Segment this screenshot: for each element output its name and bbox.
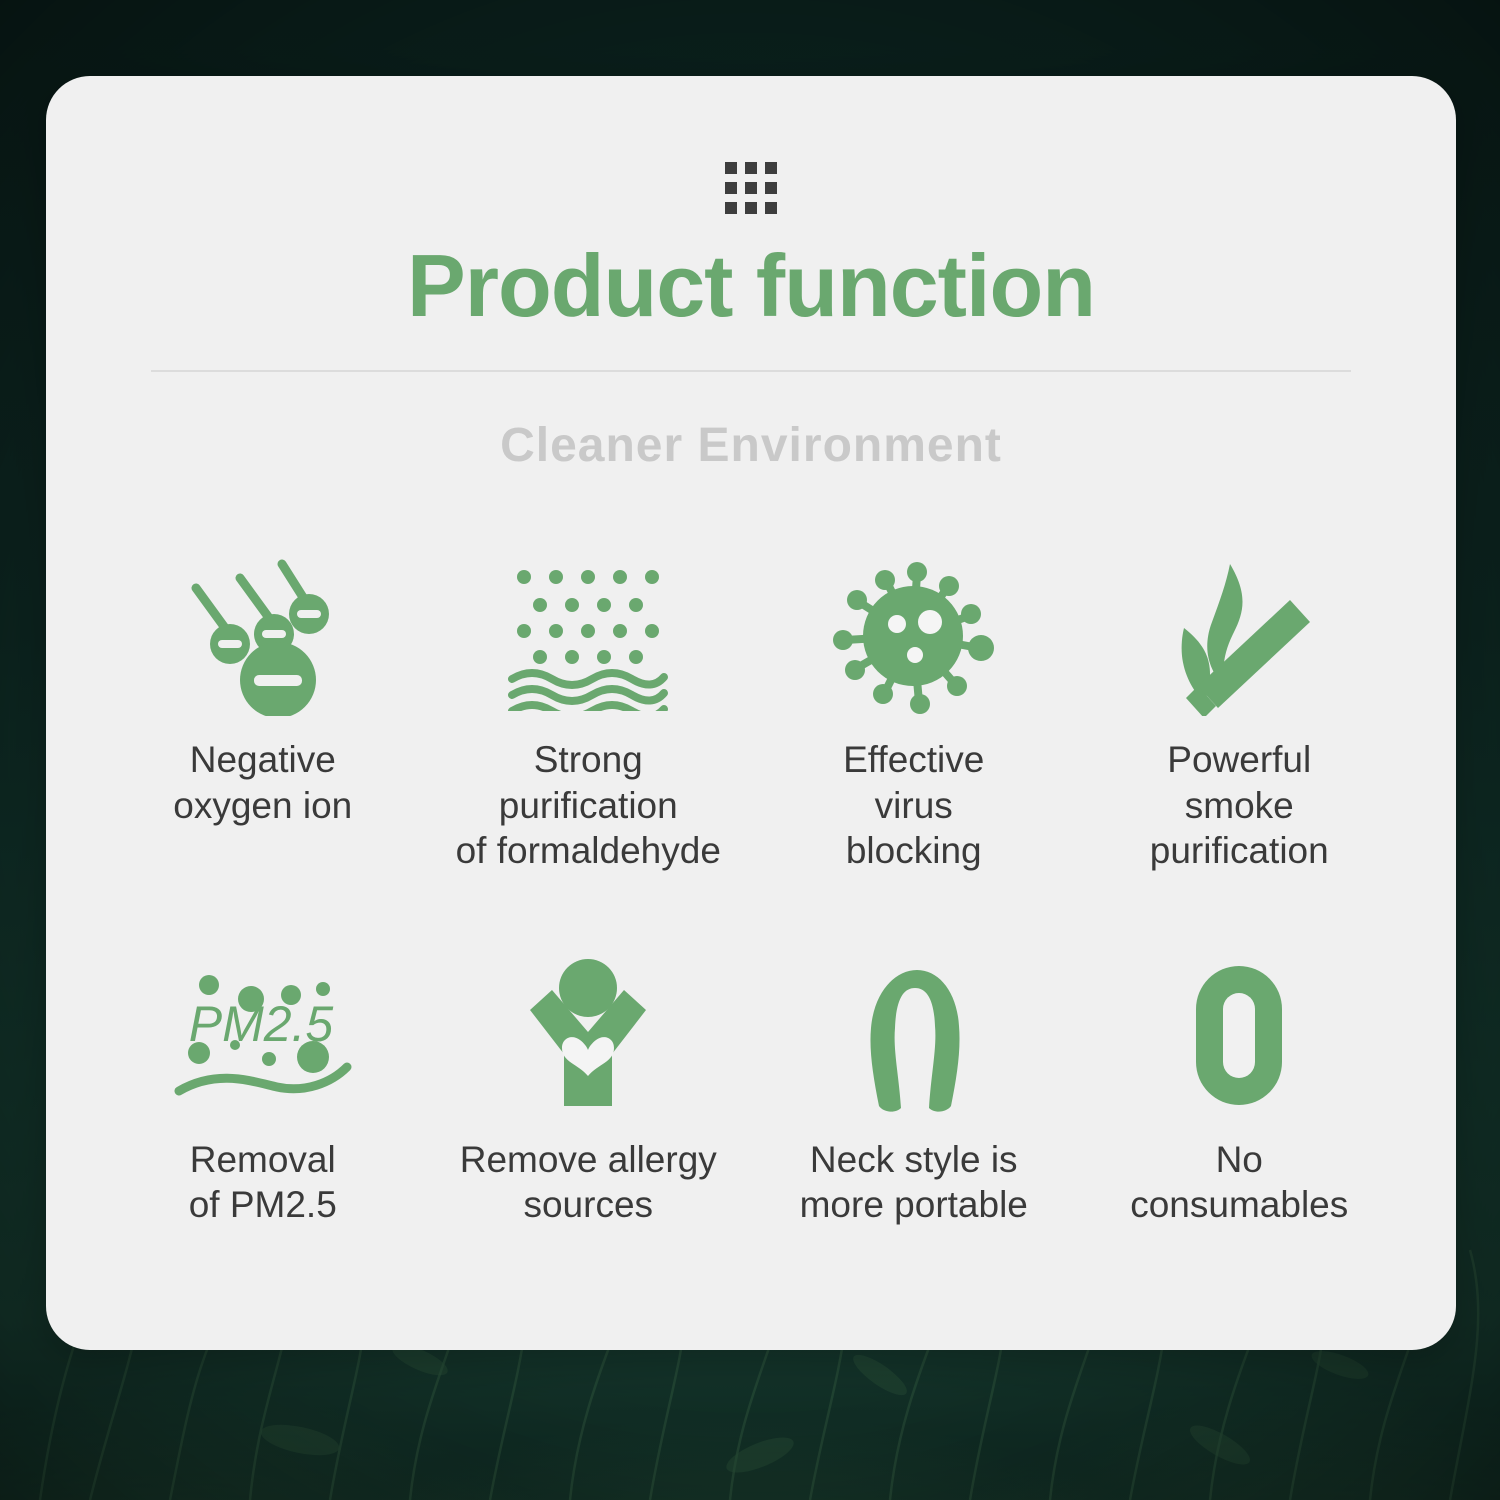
feature-grid: Negative oxygen ion xyxy=(100,551,1402,1227)
cigarette-smoke-icon xyxy=(1077,551,1403,721)
feature-label: Removal of PM2.5 xyxy=(189,1137,337,1227)
page-title: Product function xyxy=(46,240,1456,332)
formaldehyde-waves-icon xyxy=(426,551,752,721)
feature-item-formaldehyde: Strong purification of formaldehyde xyxy=(426,551,752,872)
feature-item-negative-oxygen-ion: Negative oxygen ion xyxy=(100,551,426,872)
feature-label: Strong purification of formaldehyde xyxy=(456,737,721,872)
feature-label: Powerful smoke purification xyxy=(1150,737,1329,872)
zero-icon xyxy=(1077,951,1403,1121)
pm25-icon: PM2.5 xyxy=(100,951,426,1121)
grid-dots-icon xyxy=(725,162,777,214)
feature-label: No consumables xyxy=(1130,1137,1348,1227)
pm25-icon-text: PM2.5 xyxy=(188,996,333,1052)
feature-item-neck-style: Neck style is more portable xyxy=(751,951,1077,1227)
neckband-icon xyxy=(751,951,1077,1121)
product-function-card: Product function Cleaner Environment xyxy=(46,76,1456,1350)
feature-label: Effective virus blocking xyxy=(843,737,984,872)
feature-item-no-consumables: No consumables xyxy=(1077,951,1403,1227)
feature-item-pm25: PM2.5 Removal of PM2.5 xyxy=(100,951,426,1227)
negative-ion-icon xyxy=(100,551,426,721)
feature-label: Neck style is more portable xyxy=(800,1137,1028,1227)
page-subtitle: Cleaner Environment xyxy=(46,418,1456,473)
feature-item-allergy-sources: Remove allergy sources xyxy=(426,951,752,1227)
person-heart-icon xyxy=(426,951,752,1121)
feature-label: Remove allergy sources xyxy=(460,1137,717,1227)
feature-item-virus-blocking: Effective virus blocking xyxy=(751,551,1077,872)
header-divider xyxy=(151,370,1351,372)
feature-item-smoke-purification: Powerful smoke purification xyxy=(1077,551,1403,872)
feature-label: Negative oxygen ion xyxy=(173,737,352,827)
virus-icon xyxy=(751,551,1077,721)
